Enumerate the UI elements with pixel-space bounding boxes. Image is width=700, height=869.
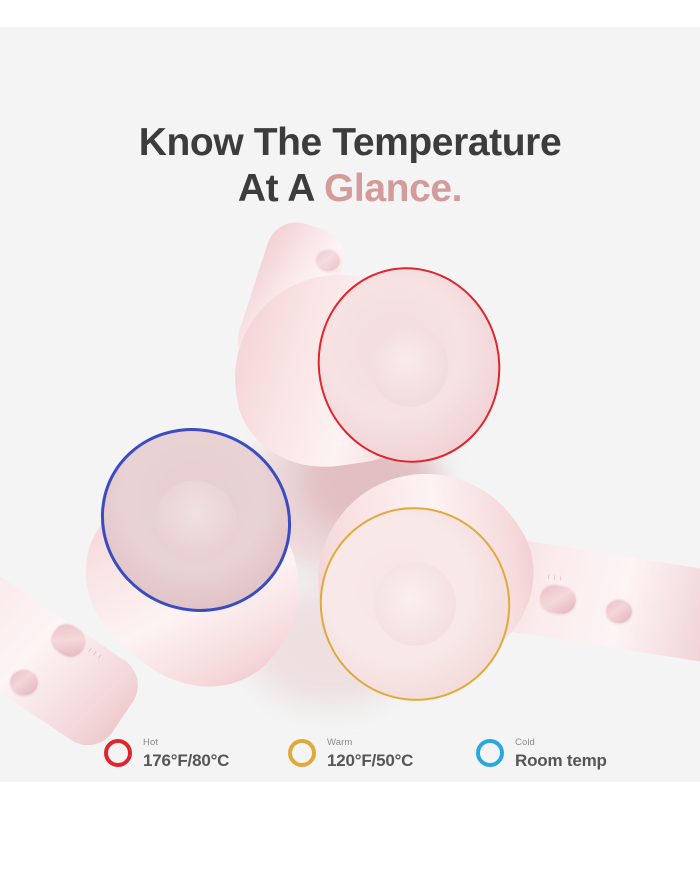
hair-dryer-warm: | | | [300, 457, 700, 757]
legend-value-warm: 120°F/50°C [327, 752, 413, 769]
legend-item-cold: Cold Room temp [476, 738, 607, 769]
ring-icon-cold [476, 739, 504, 767]
legend-label-hot: Hot [143, 738, 229, 748]
dryer-button-cold [10, 669, 38, 695]
headline-accent-word: Glance. [324, 167, 462, 210]
legend-text-hot: Hot 176°F/80°C [143, 738, 229, 769]
ring-icon-warm [288, 739, 316, 767]
ring-icon-hot [104, 739, 132, 767]
headline-line-2-prefix: At A [238, 167, 324, 210]
headline-line-1: Know The Temperature [0, 120, 700, 166]
legend-value-cold: Room temp [515, 752, 607, 769]
legend-text-warm: Warm 120°F/50°C [327, 738, 413, 769]
hair-dryer-cold: | | | [0, 407, 340, 782]
legend-text-cold: Cold Room temp [515, 738, 607, 769]
legend-label-warm: Warm [327, 738, 413, 748]
page-title: Know The Temperature At A Glance. [0, 120, 700, 211]
headline-line-2: At A Glance. [0, 166, 700, 212]
legend-item-warm: Warm 120°F/50°C [288, 738, 413, 769]
legend-label-cold: Cold [515, 738, 607, 748]
product-marketing-image: | | | | | | Know The Temperature At A Gl… [0, 0, 700, 869]
product-photo-panel: | | | | | | Know The Temperature At A Gl… [0, 27, 700, 782]
temperature-legend: Hot 176°F/80°C Warm 120°F/50°C Cold Room… [0, 730, 700, 782]
dryer-button-warm [606, 599, 632, 623]
dryer-button-hot-top [316, 249, 340, 271]
legend-item-hot: Hot 176°F/80°C [104, 738, 229, 769]
legend-value-hot: 176°F/80°C [143, 752, 229, 769]
